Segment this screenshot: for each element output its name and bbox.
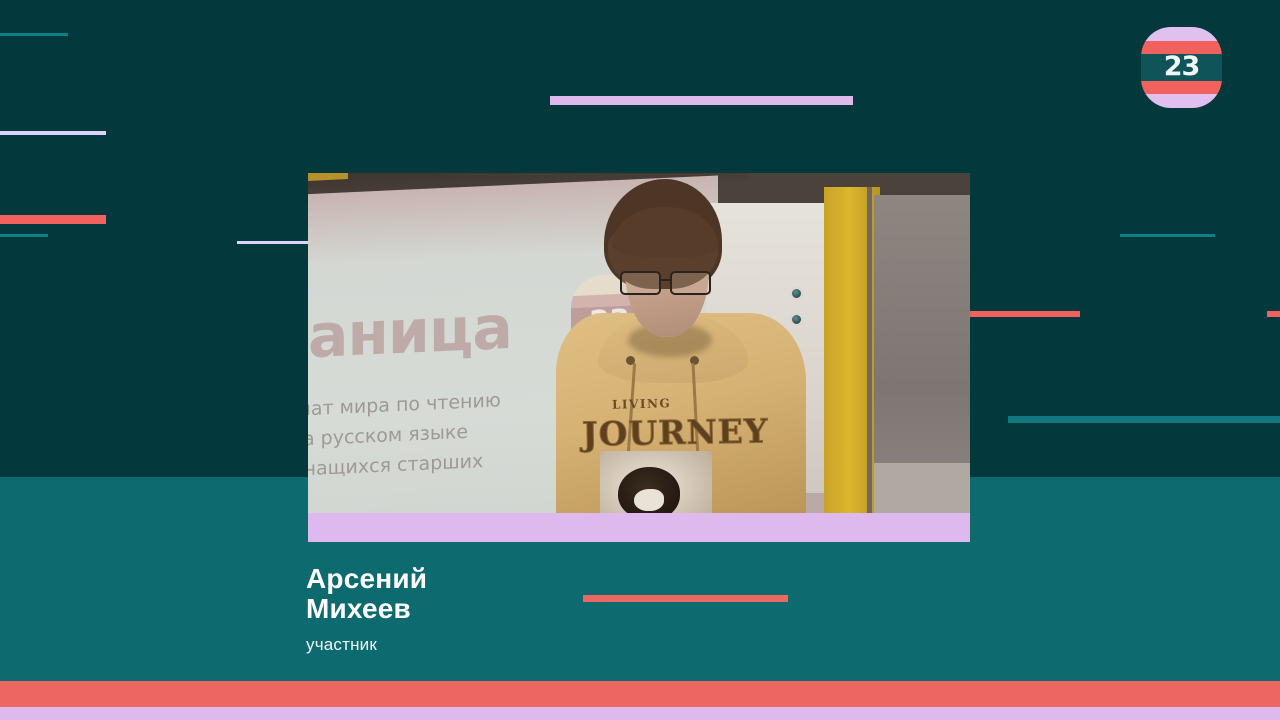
decor-line-left-lavender-thin: [237, 241, 311, 244]
decor-line-right-coral-edge: [1267, 311, 1280, 317]
bear-snout: [634, 489, 664, 511]
decor-line-center-coral: [583, 595, 788, 602]
hoodie-text-journey: JOURNEY: [582, 411, 769, 453]
speaker-name-line-2: Михеев: [306, 594, 427, 624]
speaker-role: участник: [306, 635, 427, 655]
photo-scene: раница 23 пионат мира по чтению ух на ру…: [308, 173, 970, 514]
projection-text-block: пионат мира по чтению ух на русском язык…: [308, 381, 592, 514]
background-band-coral: [0, 681, 1280, 707]
call-button-upper-icon: [790, 287, 803, 300]
decor-line-right-teal-wide: [1008, 416, 1280, 423]
decor-line-top-left-teal: [0, 33, 68, 36]
logo-stripe-coral-bottom: [1141, 81, 1222, 94]
decor-line-left-coral: [0, 215, 106, 224]
projection-title: раница: [308, 293, 512, 374]
speaker-caption: Арсений Михеев участник: [306, 564, 427, 655]
glasses-lens-left: [620, 271, 661, 295]
decor-line-left-teal-thin: [0, 234, 48, 237]
photo-bottom-accent-bar: [308, 513, 970, 542]
glasses-lens-right: [670, 271, 711, 295]
logo-number: 23: [1141, 51, 1222, 82]
wall-pipe: [867, 187, 872, 514]
decor-line-top-lavender: [550, 96, 853, 105]
glasses-icon: [620, 271, 716, 297]
lower-third-graphic: 23 раница 23 пион: [0, 0, 1280, 720]
brand-logo-badge: 23: [1141, 27, 1222, 108]
hoodie-bear-graphic: [600, 451, 712, 514]
background-band-lavender: [0, 707, 1280, 720]
speaker-name-line-1: Арсений: [306, 564, 427, 594]
speaker-photo: раница 23 пионат мира по чтению ух на ру…: [308, 173, 970, 514]
logo-stripe-lavender-bottom: [1141, 94, 1222, 108]
logo-stripe-teal: 23: [1141, 54, 1222, 82]
call-button-lower-icon: [790, 313, 803, 326]
decor-line-right-coral: [970, 311, 1080, 317]
hoodie-text-living: LIVING: [612, 396, 672, 412]
wall-panel-grey-lower: [874, 463, 970, 514]
decor-line-right-teal: [1120, 234, 1215, 237]
logo-stripe-lavender-top: [1141, 27, 1222, 41]
decor-line-left-lavender: [0, 131, 106, 135]
